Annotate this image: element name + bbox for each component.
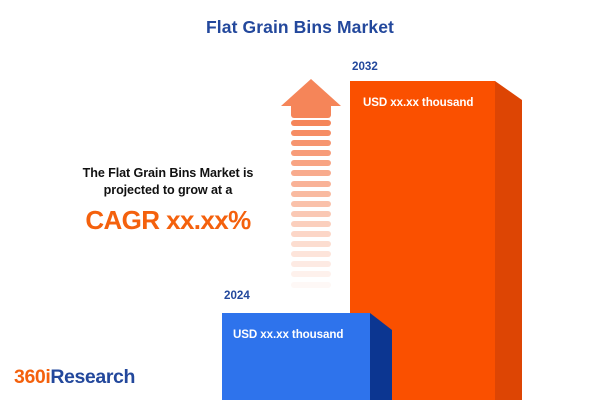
arrow-head-icon: [281, 79, 341, 106]
cagr-lead-text: The Flat Grain Bins Market is projected …: [56, 165, 280, 198]
arrow-stripe: [291, 211, 331, 217]
arrow-stripe: [291, 191, 331, 197]
bar-2024-front-face: [222, 313, 370, 400]
arrow-stripe: [291, 160, 331, 166]
arrow-stripe: [291, 282, 331, 288]
arrow-stripe: [291, 271, 331, 277]
arrow-stripe: [291, 170, 331, 176]
arrow-stripe: [291, 120, 331, 126]
arrow-stripe: [291, 181, 331, 187]
cagr-value: CAGR xx.xx%: [56, 205, 280, 236]
arrow-stripe: [291, 241, 331, 247]
brand-logo-prefix: 360i: [14, 366, 50, 388]
cagr-lead-line-1: The Flat Grain Bins Market is: [56, 165, 280, 182]
bar-year-label-2024: 2024: [224, 289, 250, 302]
arrow-stripe: [291, 221, 331, 227]
bar-2032-side-face: [495, 81, 522, 400]
arrow-neck-icon: [291, 105, 331, 118]
arrow-stripe: [291, 292, 331, 298]
arrow-stripe: [291, 130, 331, 136]
arrow-stripe: [291, 261, 331, 267]
infographic-canvas: Flat Grain Bins Market The Flat Grain Bi…: [0, 0, 600, 400]
arrow-stripe: [291, 150, 331, 156]
bar-year-label-2032: 2032: [352, 60, 378, 73]
cagr-lead-line-2: projected to grow at a: [56, 182, 280, 199]
arrow-stripe: [291, 140, 331, 146]
growth-arrow-icon: [281, 79, 341, 299]
bar-value-label-2032: USD xx.xx thousand: [363, 96, 473, 109]
bar-value-label-2024: USD xx.xx thousand: [233, 328, 343, 341]
arrow-stripe: [291, 251, 331, 257]
arrow-stripe: [291, 231, 331, 237]
arrow-stripe: [291, 201, 331, 207]
page-title: Flat Grain Bins Market: [0, 17, 600, 38]
bar-2024[interactable]: [222, 313, 370, 400]
brand-logo-suffix: Research: [50, 366, 135, 388]
cagr-callout: The Flat Grain Bins Market is projected …: [56, 165, 280, 236]
arrow-stripes: [291, 120, 331, 302]
brand-logo[interactable]: 360iResearch: [14, 366, 135, 389]
